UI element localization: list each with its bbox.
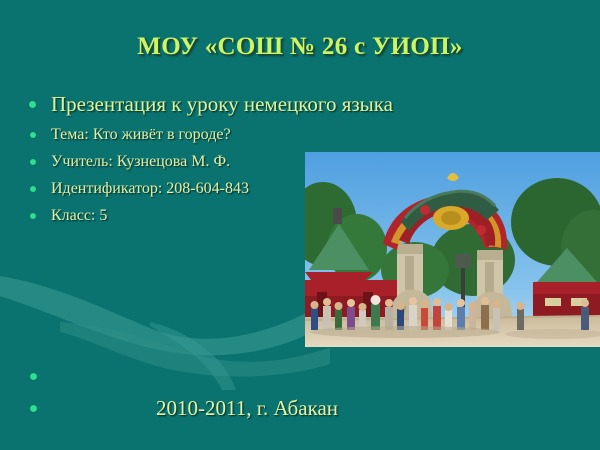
photo-illustration [305,152,600,347]
bullet-dot-icon [30,405,37,412]
bullet-dot-icon [30,132,36,138]
list-item: Учитель: Кузнецова М. Ф. [24,148,324,175]
slide-title: МОУ «СОШ № 26 с УИОП» [0,33,600,61]
bullet-label: Презентация к уроку немецкого языка [51,88,393,121]
photo-berlin-zoo-elephant-gate [305,152,600,347]
bullet-label: Учитель: Кузнецова М. Ф. [51,148,230,175]
list-item: 2010-2011, г. Абакан [24,392,484,424]
list-item: Идентификатор: 208-604-843 [24,175,324,202]
list-item: Тема: Кто живёт в городе? [24,121,324,148]
bullet-list: Презентация к уроку немецкого языка Тема… [24,88,324,229]
bullet-dot-icon [29,101,36,108]
list-item: Презентация к уроку немецкого языка [24,88,324,121]
list-item: Класс: 5 [24,202,324,229]
presentation-slide: МОУ «СОШ № 26 с УИОП» Презентация к урок… [0,0,600,450]
bullet-dot-icon [30,373,37,380]
bullet-dot-icon [30,186,36,192]
bullet-label: Тема: Кто живёт в городе? [51,121,231,148]
bullet-dot-icon [30,213,36,219]
bullet-label: Класс: 5 [51,202,107,229]
bullet-dot-icon [30,159,36,165]
footer-label: 2010-2011, г. Абакан [156,392,338,424]
bullet-label: Идентификатор: 208-604-843 [51,175,249,202]
list-item-empty [24,360,484,392]
footer-block: 2010-2011, г. Абакан [24,360,484,424]
